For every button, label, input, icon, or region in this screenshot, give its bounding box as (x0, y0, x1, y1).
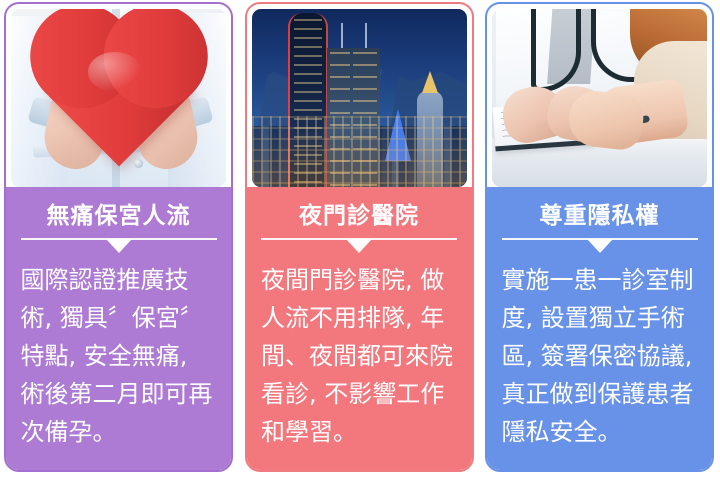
feature-card-painless-uterus-preserving[interactable]: 無痛保宮人流 國際認證推廣技術, 獨具〞保宮〞特點, 安全無痛, 術後第二月即可… (4, 2, 233, 472)
card-body: 尊重隱私權 實施一患一診室制度, 設置獨立手術區, 簽署保密協議, 真正做到保護… (487, 187, 712, 470)
card-photo-frame (252, 9, 467, 187)
feature-card-privacy-respect[interactable]: 尊重隱私權 實施一患一診室制度, 設置獨立手術區, 簽署保密協議, 真正做到保護… (485, 2, 714, 472)
nurse-holding-red-heart-photo (11, 9, 226, 187)
doctor-consulting-patient-photo (492, 9, 707, 187)
card-description: 實施一患一診室制度, 設置獨立手術區, 簽署保密協議, 真正做到保護患者隱私安全… (502, 261, 698, 451)
feature-card-night-clinic[interactable]: 夜門診醫院 夜間門診醫院, 做人流不用排隊, 年間、夜間都可來院看診, 不影響工… (245, 2, 474, 472)
title-divider (502, 237, 698, 253)
title-divider (261, 237, 457, 253)
card-description: 國際認證推廣技術, 獨具〞保宮〞特點, 安全無痛, 術後第二月即可再次備孕。 (21, 261, 217, 451)
card-title: 無痛保宮人流 (47, 202, 191, 231)
card-title: 尊重隱私權 (540, 202, 660, 231)
feature-cards-row: 無痛保宮人流 國際認證推廣技術, 獨具〞保宮〞特點, 安全無痛, 術後第二月即可… (0, 0, 720, 478)
card-photo-frame (492, 9, 707, 187)
caret-down-icon (106, 239, 132, 253)
card-body: 夜門診醫院 夜間門診醫院, 做人流不用排隊, 年間、夜間都可來院看診, 不影響工… (247, 187, 472, 470)
card-description: 夜間門診醫院, 做人流不用排隊, 年間、夜間都可來院看診, 不影響工作和學習。 (261, 261, 457, 451)
city-glow-overlay (252, 89, 467, 187)
uniform-button-icon (134, 159, 143, 168)
caret-down-icon (346, 239, 372, 253)
caret-down-icon (587, 239, 613, 253)
night-city-skyline-photo (252, 9, 467, 187)
card-title: 夜門診醫院 (299, 202, 419, 231)
title-divider (21, 237, 217, 253)
card-body: 無痛保宮人流 國際認證推廣技術, 獨具〞保宮〞特點, 安全無痛, 術後第二月即可… (6, 187, 231, 470)
card-photo-frame (11, 9, 226, 187)
